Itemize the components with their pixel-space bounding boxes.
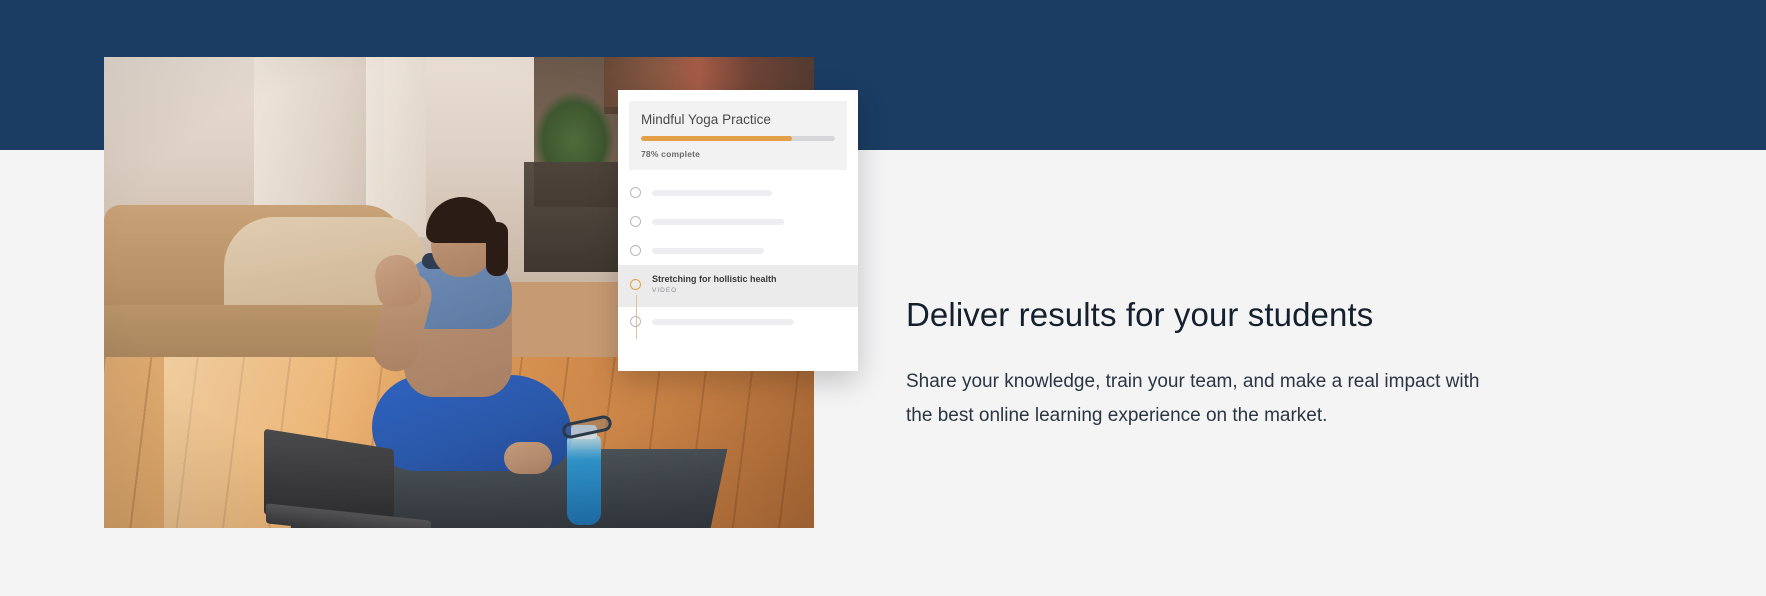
lesson-type-label: VIDEO [652,287,777,294]
content-column: Deliver results for your students Share … [906,295,1526,434]
lesson-checkbox-icon[interactable] [630,216,641,227]
page-root: Mindful Yoga Practice 78% complete [0,0,1766,596]
lesson-list-item[interactable] [618,307,858,336]
course-card-header: Mindful Yoga Practice 78% complete [629,101,847,170]
course-progress-bar [641,136,835,141]
lesson-checkbox-icon[interactable] [630,245,641,256]
lesson-list-item-active[interactable]: Stretching for hollistic health VIDEO [618,265,858,307]
lesson-list-item[interactable] [618,236,858,265]
lesson-list: Stretching for hollistic health VIDEO [618,178,858,336]
lesson-placeholder-bar [652,248,764,254]
lesson-text-group: Stretching for hollistic health VIDEO [652,274,777,294]
lesson-checkbox-icon[interactable] [630,187,641,198]
course-progress-fill [641,136,792,141]
course-progress-card: Mindful Yoga Practice 78% complete [618,90,858,371]
lesson-placeholder-bar [652,319,794,325]
lesson-checkbox-icon[interactable] [630,316,641,327]
body-paragraph: Share your knowledge, train your team, a… [906,365,1506,434]
lesson-placeholder-bar [652,190,772,196]
lesson-title: Stretching for hollistic health [652,274,777,284]
page-title: Deliver results for your students [906,295,1526,335]
lesson-placeholder-bar [652,219,784,225]
lesson-checkbox-icon[interactable] [630,279,641,290]
course-progress-label: 78% complete [641,149,835,159]
course-title: Mindful Yoga Practice [641,112,835,127]
lesson-list-item[interactable] [618,178,858,207]
lesson-list-item[interactable] [618,207,858,236]
